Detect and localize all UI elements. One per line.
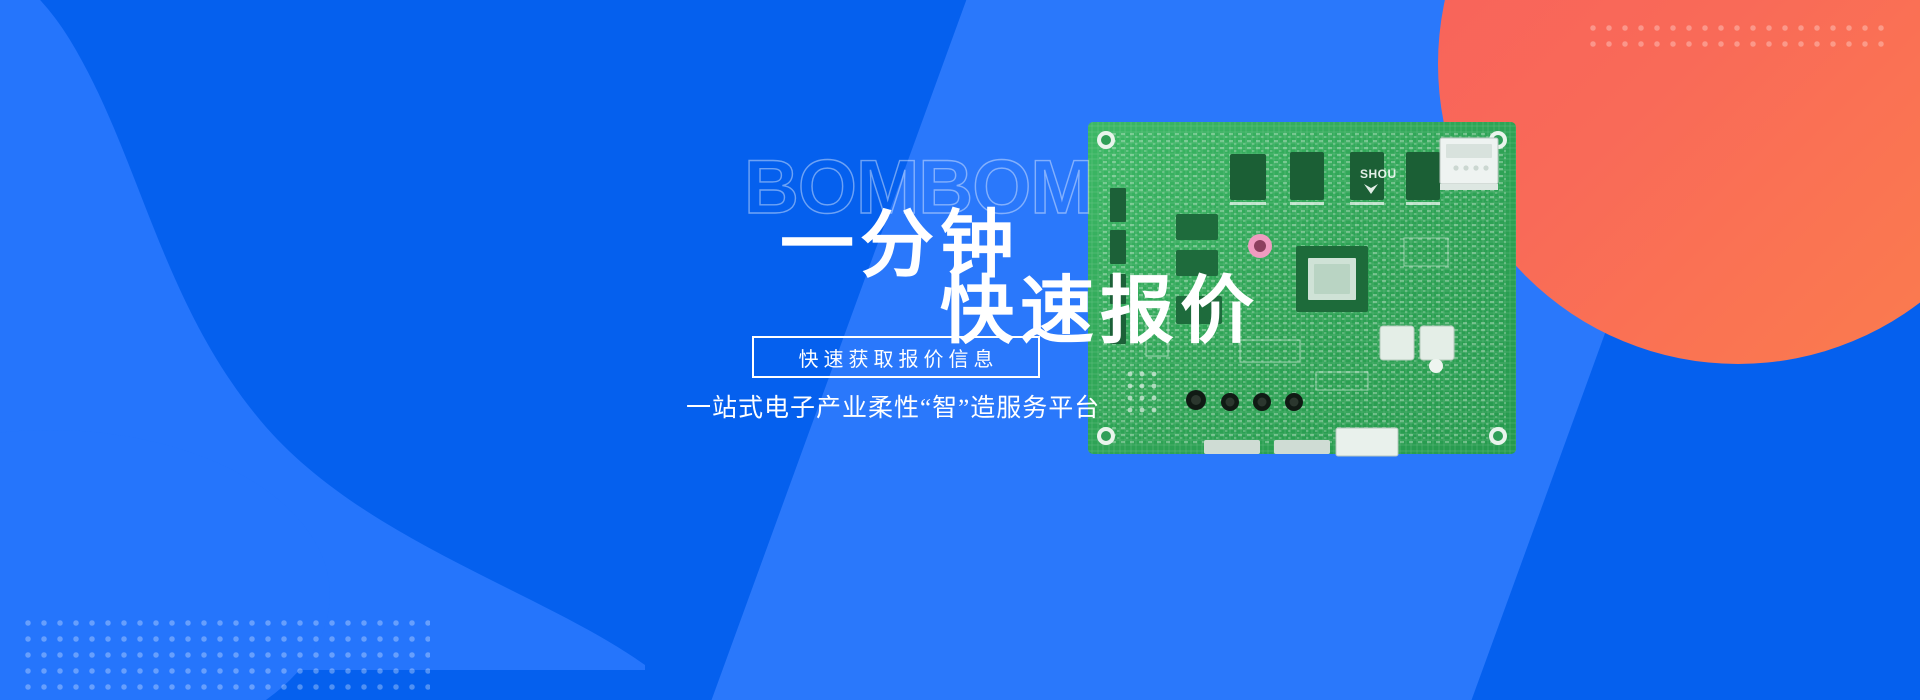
light-blue-organic-blob (0, 0, 740, 670)
hero-banner: SHOU (0, 0, 1920, 700)
banner-copy: BOMBOM 一分钟 快速报价 快速获取报价信息 一站式电子产业柔性“智”造服务… (640, 150, 1320, 510)
light-blue-circle-blob (0, 430, 330, 700)
svg-text:SHOU: SHOU (1360, 167, 1397, 181)
dot-grid-top-right (1585, 20, 1885, 56)
subtitle-box: 快速获取报价信息 (752, 336, 1040, 378)
tagline: 一站式电子产业柔性“智”造服务平台 (686, 388, 1100, 424)
subtitle-text: 快速获取报价信息 (794, 343, 999, 372)
dot-grid-bottom-left (20, 615, 430, 697)
